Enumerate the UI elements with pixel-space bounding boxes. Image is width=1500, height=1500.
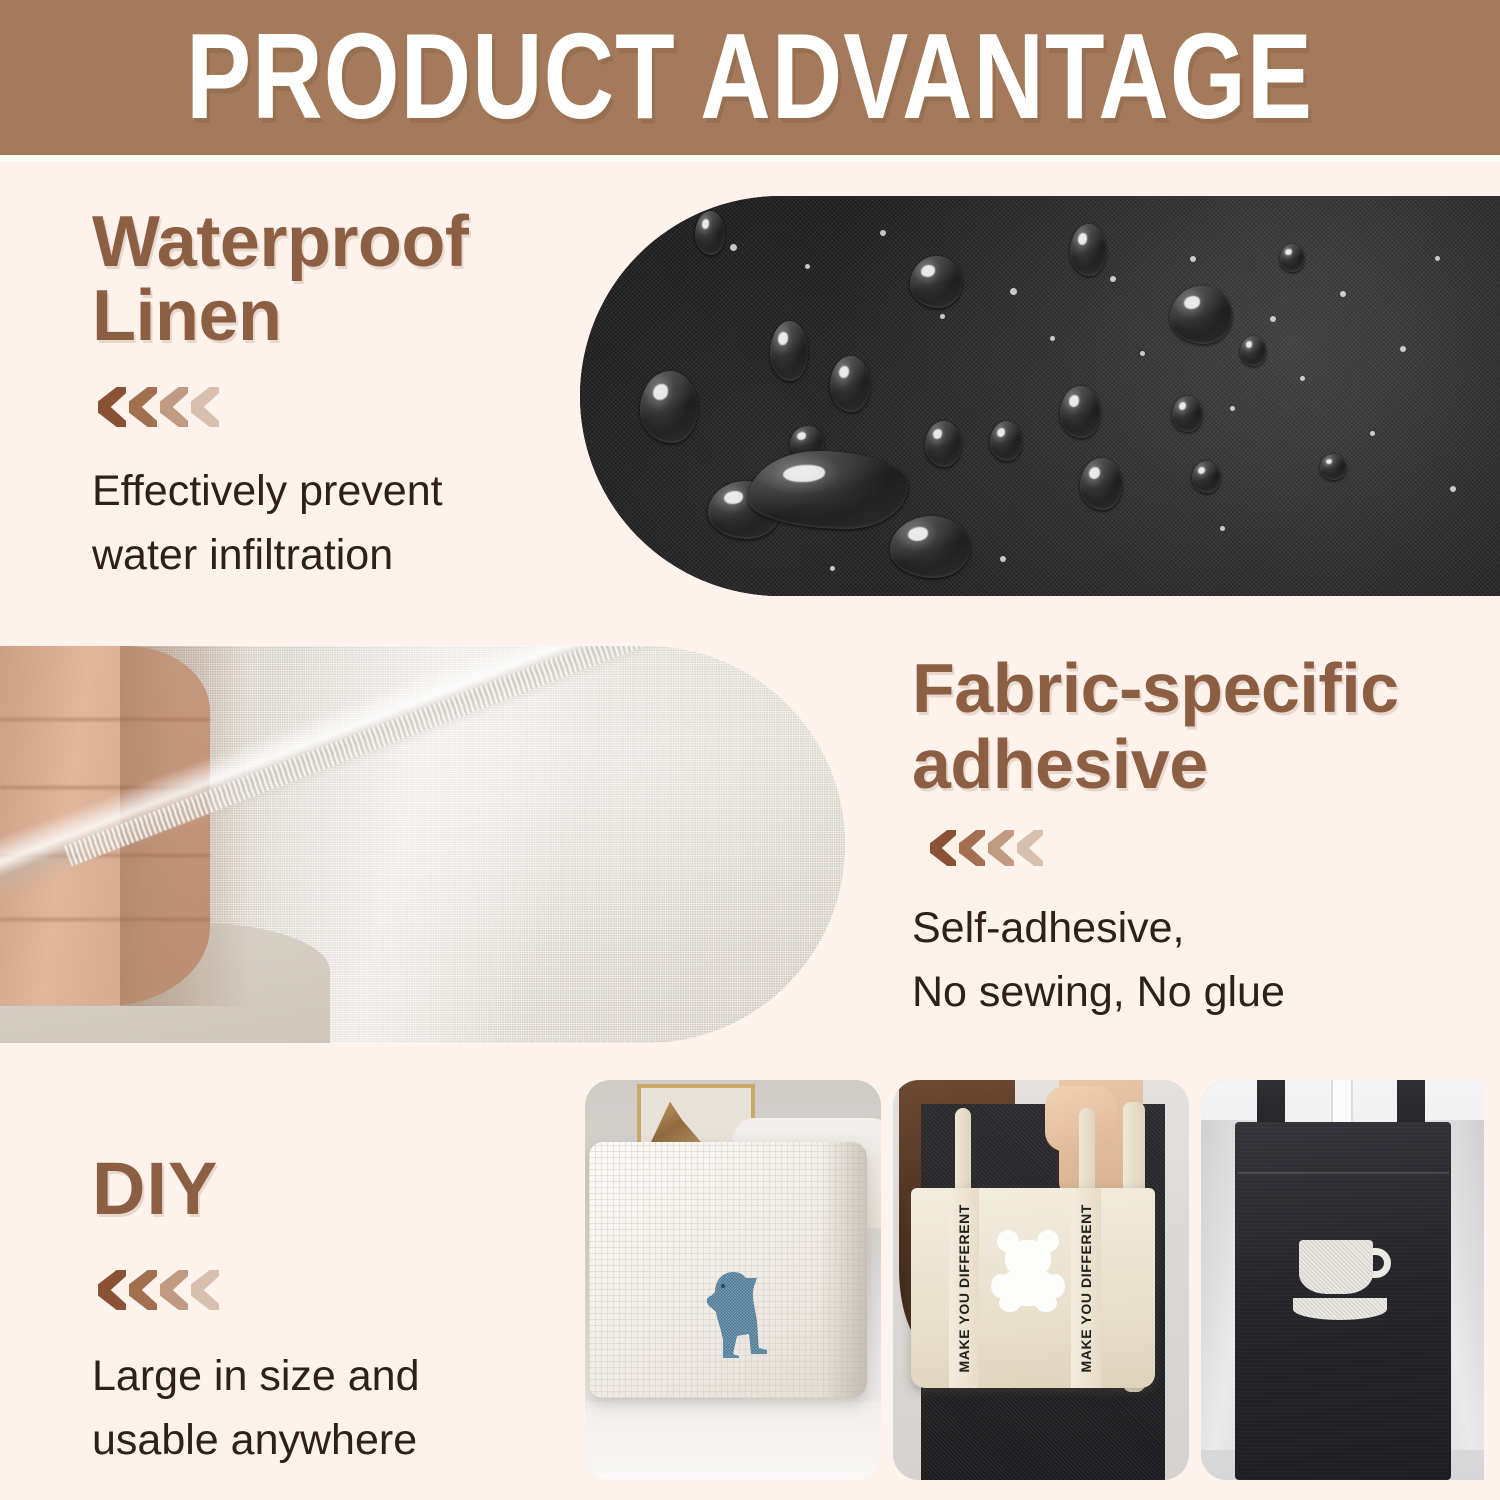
waterproof-caption-line2: water infiltration bbox=[92, 523, 562, 587]
water-mist bbox=[1010, 288, 1017, 295]
water-mist bbox=[1220, 526, 1225, 531]
waterproof-chevron-row bbox=[98, 387, 562, 427]
waterproof-title-line2: Linen bbox=[92, 279, 562, 353]
water-mist bbox=[1370, 431, 1375, 436]
bag-strap-left: MAKE YOU DIFFERENT bbox=[949, 1188, 979, 1388]
water-droplet bbox=[1320, 454, 1346, 480]
water-mist bbox=[1300, 376, 1305, 381]
double-chevron-left-icon bbox=[129, 1270, 157, 1310]
adhesive-title-line1: Fabric-specific bbox=[912, 650, 1492, 726]
double-chevron-left-icon bbox=[160, 1270, 188, 1310]
bag-strap-right: MAKE YOU DIFFERENT bbox=[1071, 1188, 1101, 1388]
water-droplets-photo bbox=[580, 196, 1500, 596]
water-droplet bbox=[1240, 336, 1266, 366]
water-mist bbox=[1400, 346, 1406, 352]
header-band: PRODUCT ADVANTAGE bbox=[0, 0, 1500, 155]
water-mist bbox=[880, 230, 886, 236]
pillow-photo bbox=[585, 1080, 881, 1480]
bear-silhouette-patch bbox=[991, 1230, 1065, 1310]
section-waterproof-text: Waterproof Linen Effectively prevent wat… bbox=[92, 205, 562, 587]
header-underline bbox=[0, 155, 1500, 162]
apron-seam bbox=[1237, 1172, 1449, 1174]
water-droplet bbox=[1170, 286, 1232, 344]
double-chevron-left-icon bbox=[930, 830, 956, 866]
double-chevron-left-icon bbox=[129, 387, 157, 427]
water-mist bbox=[1270, 316, 1276, 322]
water-droplet bbox=[770, 321, 808, 381]
water-mist bbox=[1190, 256, 1196, 262]
dog-silhouette-patch bbox=[693, 1262, 783, 1360]
diy-caption-line1: Large in size and bbox=[92, 1344, 562, 1408]
double-chevron-left-icon bbox=[191, 387, 219, 427]
tote-bag-photo: MAKE YOU DIFFERENT MAKE YOU DIFFERENT bbox=[893, 1080, 1189, 1480]
water-droplet bbox=[1080, 458, 1122, 510]
bag-strap-text: MAKE YOU DIFFERENT bbox=[1078, 1204, 1094, 1372]
water-mist bbox=[1450, 486, 1456, 492]
double-chevron-left-icon bbox=[98, 1270, 126, 1310]
water-mist bbox=[1340, 291, 1346, 297]
water-mist bbox=[1000, 556, 1006, 562]
water-droplet bbox=[695, 211, 725, 255]
double-chevron-left-icon bbox=[98, 387, 126, 427]
fabric-texture bbox=[580, 196, 1500, 596]
double-chevron-left-icon bbox=[959, 830, 985, 866]
water-mist bbox=[730, 244, 737, 251]
section-adhesive-text: Fabric-specific adhesive Self-adhesive, … bbox=[912, 650, 1492, 1024]
frame-artwork bbox=[651, 1096, 701, 1142]
water-droplet bbox=[1192, 461, 1220, 493]
water-droplet bbox=[830, 356, 870, 412]
water-mist bbox=[1140, 351, 1145, 356]
water-droplet bbox=[1060, 386, 1100, 438]
adhesive-caption-line1: Self-adhesive, bbox=[912, 896, 1492, 960]
water-droplet bbox=[1070, 224, 1106, 276]
white-pillow bbox=[589, 1142, 867, 1398]
water-mist bbox=[830, 566, 835, 571]
product-advantage-infographic: PRODUCT ADVANTAGE Waterproof Linen Effec… bbox=[0, 0, 1500, 1500]
water-droplet bbox=[990, 421, 1022, 461]
water-mist bbox=[940, 314, 945, 319]
linen-fabric-photo bbox=[0, 646, 845, 1043]
apron-photo bbox=[1201, 1080, 1484, 1480]
adhesive-caption-line2: No sewing, No glue bbox=[912, 960, 1492, 1024]
adhesive-chevron-row bbox=[930, 830, 1492, 866]
double-chevron-left-icon bbox=[191, 1270, 219, 1310]
page-title: PRODUCT ADVANTAGE bbox=[187, 8, 1314, 147]
water-droplet bbox=[925, 421, 961, 467]
water-droplet bbox=[748, 451, 908, 529]
water-droplet bbox=[1172, 396, 1202, 432]
bear-leg-left bbox=[999, 1294, 1021, 1312]
bear-leg-right bbox=[1035, 1294, 1057, 1312]
section-diy-text: DIY Large in size and usable anywhere bbox=[92, 1150, 562, 1472]
water-droplet bbox=[640, 371, 698, 443]
water-mist bbox=[805, 264, 810, 269]
water-mist bbox=[1050, 336, 1055, 341]
waterproof-caption-line1: Effectively prevent bbox=[92, 459, 562, 523]
water-mist bbox=[1435, 256, 1440, 261]
waterproof-title-line1: Waterproof bbox=[92, 205, 562, 279]
water-mist bbox=[1230, 406, 1235, 411]
diy-caption-line2: usable anywhere bbox=[92, 1408, 562, 1472]
diy-chevron-row bbox=[98, 1270, 562, 1310]
double-chevron-left-icon bbox=[160, 387, 188, 427]
double-chevron-left-icon bbox=[988, 830, 1014, 866]
double-chevron-left-icon bbox=[1017, 830, 1043, 866]
water-mist bbox=[1110, 276, 1116, 282]
water-droplet bbox=[1280, 244, 1304, 272]
pillow-shadow bbox=[821, 1142, 867, 1398]
teacup-body bbox=[1299, 1240, 1373, 1294]
floor bbox=[585, 1402, 881, 1480]
bag-strap-text: MAKE YOU DIFFERENT bbox=[956, 1204, 972, 1372]
teacup-saucer bbox=[1293, 1298, 1387, 1320]
water-droplet bbox=[890, 516, 970, 578]
water-droplet bbox=[910, 256, 962, 308]
adhesive-title-line2: adhesive bbox=[912, 726, 1492, 802]
diy-title: DIY bbox=[92, 1150, 562, 1228]
teacup-silhouette-patch bbox=[1293, 1240, 1393, 1340]
